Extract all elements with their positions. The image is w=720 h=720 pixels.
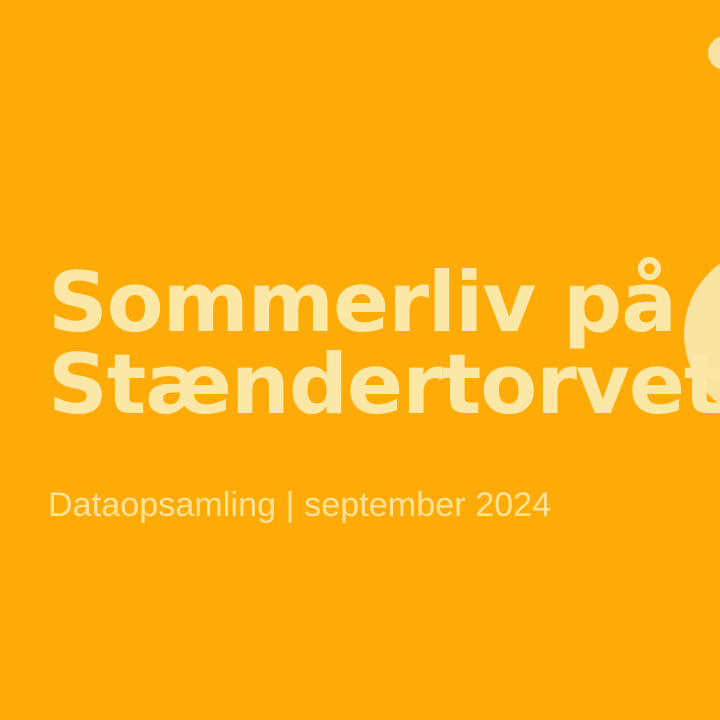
page-title: Sommerliv på Stændertorvet bbox=[48, 262, 720, 426]
page-subtitle: Dataopsamling | september 2024 bbox=[48, 426, 720, 524]
text-block: Sommerliv på Stændertorvet Dataopsamling… bbox=[48, 262, 720, 525]
page-title-line-1: Sommerliv på bbox=[48, 262, 720, 344]
title-slide: Sommerliv på Stændertorvet Dataopsamling… bbox=[0, 0, 720, 720]
page-title-line-2: Stændertorvet bbox=[48, 344, 720, 426]
small-corner-circle-shape bbox=[708, 36, 720, 70]
